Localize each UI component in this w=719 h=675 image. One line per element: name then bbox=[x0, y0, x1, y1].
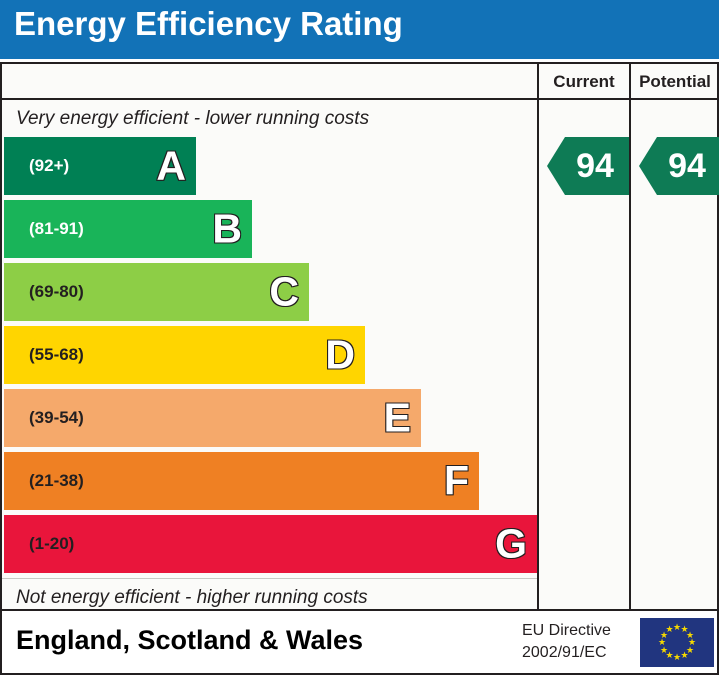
band-e-letter: E bbox=[384, 398, 411, 439]
band-c-range: (69-80) bbox=[29, 282, 84, 302]
band-g-range: (1-20) bbox=[29, 534, 74, 554]
chart-title-bar: Energy Efficiency Rating bbox=[0, 0, 719, 59]
current-rating-value: 94 bbox=[562, 149, 614, 183]
band-g: (1-20) G bbox=[4, 515, 537, 573]
band-b-letter: B bbox=[212, 209, 242, 250]
footer-directive-line1: EU Directive bbox=[522, 620, 632, 642]
band-e-range: (39-54) bbox=[29, 408, 84, 428]
page-title: Energy Efficiency Rating bbox=[14, 5, 403, 43]
footer-region-label: England, Scotland & Wales bbox=[16, 625, 363, 656]
column-divider-potential bbox=[629, 64, 631, 609]
chart-footer: England, Scotland & Wales EU Directive 2… bbox=[0, 611, 719, 675]
band-list: (92+) A (81-91) B (69-80) C (55-68) D (3… bbox=[2, 137, 537, 577]
current-rating-badge: 94 bbox=[547, 137, 629, 195]
column-divider-current bbox=[537, 64, 539, 609]
epc-energy-efficiency-chart: Energy Efficiency Rating Current Potenti… bbox=[0, 0, 719, 675]
caption-efficient: Very energy efficient - lower running co… bbox=[16, 108, 369, 130]
band-e: (39-54) E bbox=[4, 389, 421, 447]
band-c-letter: C bbox=[269, 272, 299, 313]
band-g-letter: G bbox=[495, 524, 527, 565]
column-header-current: Current bbox=[539, 72, 629, 92]
rating-table: Current Potential Very energy efficient … bbox=[0, 62, 719, 611]
band-f-range: (21-38) bbox=[29, 471, 84, 491]
potential-rating-value: 94 bbox=[654, 149, 706, 183]
band-a-range: (92+) bbox=[29, 156, 69, 176]
band-a: (92+) A bbox=[4, 137, 196, 195]
footer-directive: EU Directive 2002/91/EC bbox=[522, 620, 632, 663]
band-d-letter: D bbox=[325, 335, 355, 376]
caption-inefficient: Not energy efficient - higher running co… bbox=[16, 587, 368, 609]
caption-divider bbox=[2, 578, 537, 579]
band-d: (55-68) D bbox=[4, 326, 365, 384]
band-b: (81-91) B bbox=[4, 200, 252, 258]
band-b-range: (81-91) bbox=[29, 219, 84, 239]
band-f: (21-38) F bbox=[4, 452, 479, 510]
band-f-letter: F bbox=[444, 461, 469, 502]
eu-star-icon: ★ bbox=[665, 625, 674, 634]
band-d-range: (55-68) bbox=[29, 345, 84, 365]
band-c: (69-80) C bbox=[4, 263, 309, 321]
column-header-potential: Potential bbox=[631, 72, 719, 92]
eu-flag-icon: ★★★★★★★★★★★★ bbox=[640, 618, 714, 667]
potential-rating-badge: 94 bbox=[639, 137, 719, 195]
footer-directive-line2: 2002/91/EC bbox=[522, 642, 632, 664]
band-a-letter: A bbox=[156, 146, 186, 187]
